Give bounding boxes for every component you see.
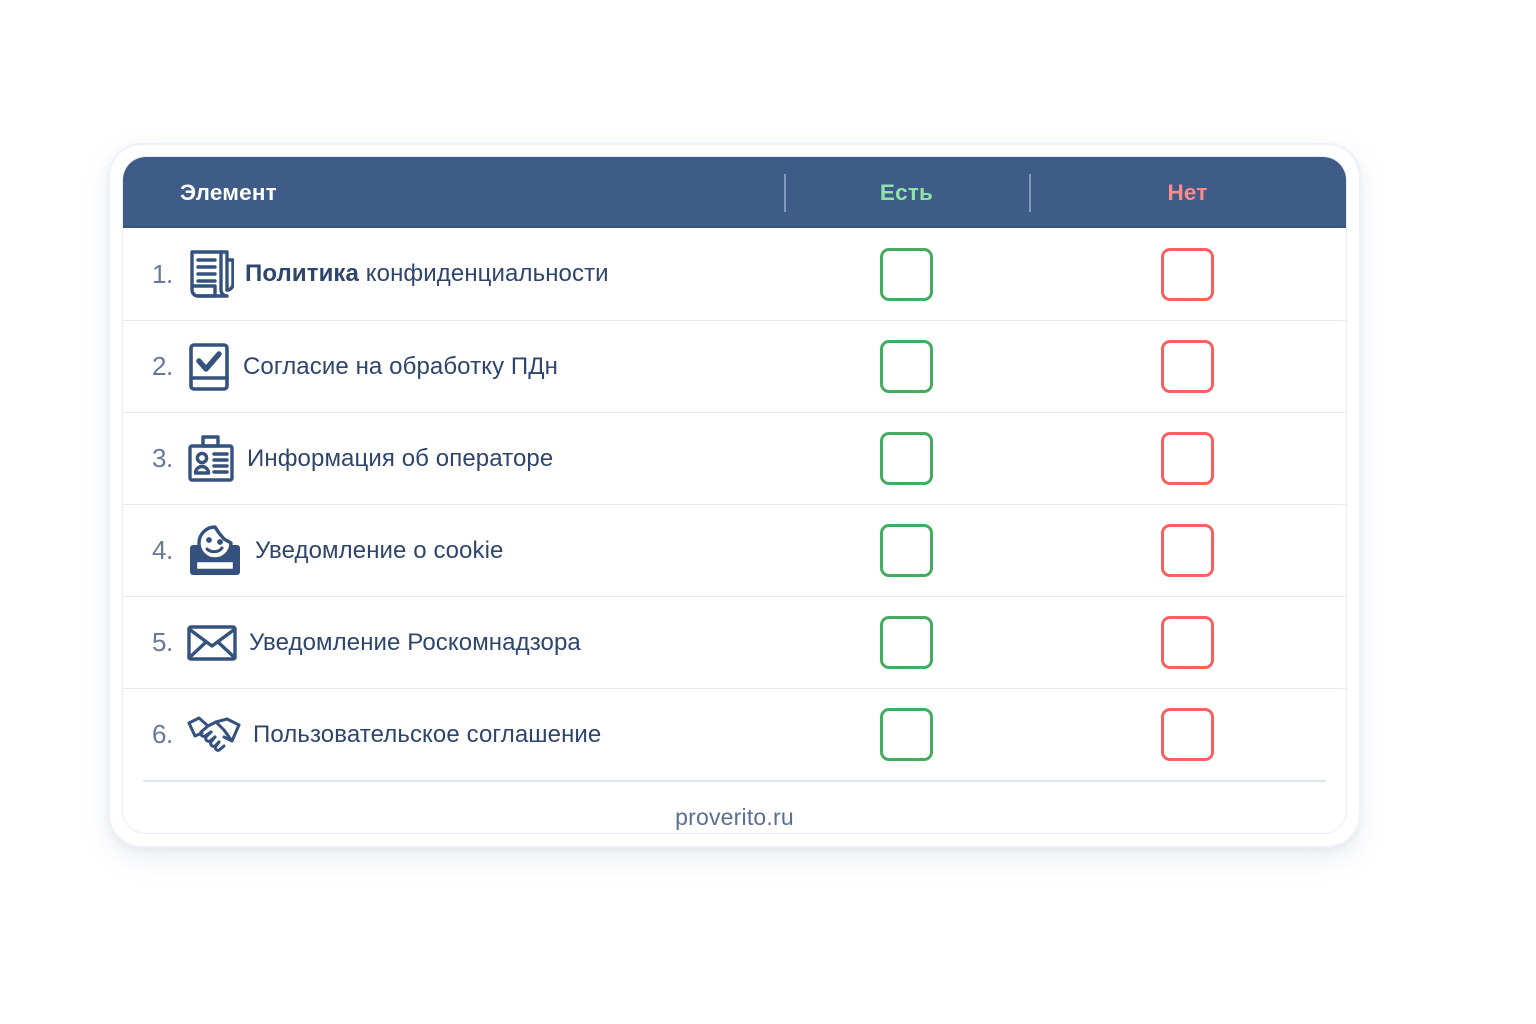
table-row: 3.	[123, 412, 1346, 504]
row-no-cell	[1029, 505, 1346, 596]
header-label-element: Элемент	[180, 180, 277, 205]
envelope-icon	[186, 623, 238, 663]
row-number: 1.	[152, 259, 186, 290]
row-yes-cell	[784, 597, 1029, 688]
checkbox-yes[interactable]	[880, 248, 933, 301]
table-row: 2. Согласие на обработку ПДн	[123, 320, 1346, 412]
site-name: proverito.ru	[675, 804, 794, 831]
row-label-rest: Уведомление Роскомнадзора	[249, 629, 581, 656]
header-cell-no: Нет	[1029, 180, 1346, 206]
table-row: 1.	[123, 228, 1346, 320]
header-label-yes: Есть	[784, 180, 1029, 206]
table-row: 5. Уведомление Роскомнадзора	[123, 596, 1346, 688]
table-row: 6.	[123, 688, 1346, 780]
row-number: 5.	[152, 627, 186, 658]
row-no-cell	[1029, 321, 1346, 412]
row-number: 4.	[152, 535, 186, 566]
checkbox-no[interactable]	[1161, 616, 1214, 669]
table-body: 1.	[123, 228, 1346, 780]
header-label-no: Нет	[1029, 180, 1346, 206]
row-number: 6.	[152, 719, 186, 750]
header-cell-yes: Есть	[784, 180, 1029, 206]
checkbox-no[interactable]	[1161, 708, 1214, 761]
row-no-cell	[1029, 689, 1346, 780]
checkbox-yes[interactable]	[880, 340, 933, 393]
row-yes-cell	[784, 505, 1029, 596]
row-label-bold: Политика	[245, 260, 359, 287]
row-label-rest: Уведомление о cookie	[255, 537, 503, 564]
checkbox-yes[interactable]	[880, 616, 933, 669]
row-no-cell	[1029, 597, 1346, 688]
checklist-card: Элемент Есть Нет 1.	[108, 143, 1361, 848]
header-cell-element: Элемент	[123, 180, 784, 206]
row-yes-cell	[784, 413, 1029, 504]
card-inner-frame: Элемент Есть Нет 1.	[122, 156, 1347, 834]
row-label-rest: Информация об операторе	[247, 445, 553, 472]
row-element-cell: 3.	[123, 413, 784, 504]
row-element-cell: 1.	[123, 228, 784, 320]
row-element-cell: 2. Согласие на обработку ПДн	[123, 321, 784, 412]
row-label: Политика конфиденциальности	[245, 260, 609, 288]
row-number: 3.	[152, 443, 186, 474]
row-element-cell: 5. Уведомление Роскомнадзора	[123, 597, 784, 688]
row-label: Пользовательское соглашение	[253, 721, 601, 749]
checkbox-no[interactable]	[1161, 524, 1214, 577]
row-label: Информация об операторе	[247, 445, 553, 473]
row-label: Согласие на обработку ПДн	[243, 353, 558, 381]
cookie-banner-icon	[186, 523, 244, 579]
row-yes-cell	[784, 689, 1029, 780]
id-badge-icon	[186, 435, 236, 483]
card-outer-frame: Элемент Есть Нет 1.	[108, 143, 1361, 848]
row-number: 2.	[152, 351, 186, 382]
table-header: Элемент Есть Нет	[123, 157, 1346, 228]
document-checkmark-icon	[186, 342, 232, 392]
checkbox-yes[interactable]	[880, 524, 933, 577]
checkbox-yes[interactable]	[880, 432, 933, 485]
row-label-rest: Пользовательское соглашение	[253, 721, 601, 748]
footer-divider	[143, 780, 1326, 782]
scroll-document-icon	[186, 248, 234, 300]
checkbox-yes[interactable]	[880, 708, 933, 761]
handshake-icon	[186, 713, 242, 757]
row-label: Уведомление о cookie	[255, 537, 503, 565]
table-row: 4. Уведомление о cookie	[123, 504, 1346, 596]
row-label: Уведомление Роскомнадзора	[249, 629, 581, 657]
checkbox-no[interactable]	[1161, 432, 1214, 485]
row-element-cell: 4. Уведомление о cookie	[123, 505, 784, 596]
row-no-cell	[1029, 228, 1346, 320]
row-label-rest: конфиденциальности	[359, 260, 609, 287]
header-divider-2	[1029, 174, 1031, 212]
row-no-cell	[1029, 413, 1346, 504]
row-yes-cell	[784, 321, 1029, 412]
table-footer: proverito.ru	[123, 780, 1346, 834]
row-label-rest: Согласие на обработку ПДн	[243, 353, 558, 380]
row-yes-cell	[784, 228, 1029, 320]
checkbox-no[interactable]	[1161, 340, 1214, 393]
row-element-cell: 6.	[123, 689, 784, 780]
header-divider-1	[784, 174, 786, 212]
checkbox-no[interactable]	[1161, 248, 1214, 301]
